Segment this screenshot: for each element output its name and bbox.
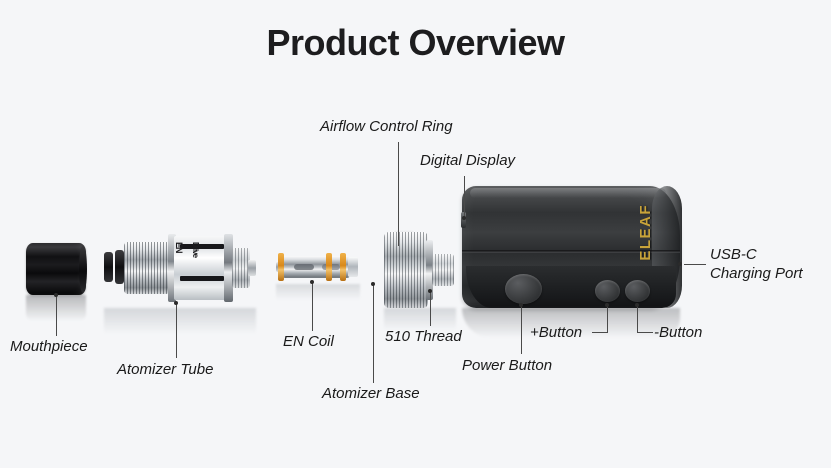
leader-en-coil bbox=[312, 283, 313, 331]
leader-dot-atomizer-tube bbox=[174, 301, 178, 305]
atomizer-oring-2 bbox=[115, 250, 124, 284]
plus-button-part[interactable] bbox=[595, 280, 620, 302]
device-top-edge bbox=[470, 188, 666, 198]
atomizer-tube-part: EN Drive bbox=[104, 228, 256, 308]
airflow-control-ring-part bbox=[384, 232, 428, 308]
label-atomizer-tube: Atomizer Tube bbox=[117, 361, 213, 380]
label-minus-button: -Button bbox=[654, 324, 702, 343]
leader-dot-mouthpiece bbox=[54, 293, 58, 297]
leader-dot-power-button bbox=[519, 303, 523, 307]
label-usb-c-line2: Charging Port bbox=[710, 265, 803, 282]
leader-usb-c-port bbox=[684, 264, 706, 265]
510-thread-part bbox=[432, 254, 454, 286]
label-mouthpiece: Mouthpiece bbox=[10, 338, 88, 357]
mouthpiece-part bbox=[26, 243, 86, 295]
leader-dot-510-thread bbox=[428, 289, 432, 293]
leader-510-thread bbox=[430, 292, 431, 326]
tank-brand-text: EN bbox=[174, 242, 184, 253]
leader-minus-button-vertical bbox=[637, 306, 638, 332]
leader-dot-minus-button bbox=[635, 303, 639, 307]
en-coil-reflection bbox=[276, 284, 360, 300]
atomizer-base-reflection bbox=[384, 308, 456, 330]
en-coil-oring-3 bbox=[340, 253, 346, 281]
label-plus-button: +Button bbox=[530, 324, 582, 343]
leader-plus-button-horizontal bbox=[592, 332, 608, 333]
leader-dot-atomizer-base bbox=[371, 282, 375, 286]
power-button-part[interactable] bbox=[505, 274, 542, 304]
leader-dot-en-coil bbox=[310, 280, 314, 284]
leader-digital-display bbox=[464, 176, 465, 218]
leader-minus-button-horizontal bbox=[637, 332, 653, 333]
label-power-button: Power Button bbox=[462, 357, 552, 376]
atomizer-tube-reflection bbox=[104, 308, 256, 334]
leader-power-button bbox=[521, 306, 522, 354]
leader-atomizer-base bbox=[373, 285, 374, 383]
en-coil-oring-2 bbox=[326, 253, 332, 281]
leader-dot-digital-display bbox=[462, 216, 466, 220]
minus-button-part[interactable] bbox=[625, 280, 650, 302]
leader-mouthpiece bbox=[56, 296, 57, 336]
leader-dot-plus-button bbox=[605, 303, 609, 307]
device-mod-part: ELEAF bbox=[462, 186, 680, 308]
label-digital-display: Digital Display bbox=[420, 152, 515, 171]
leader-atomizer-tube bbox=[176, 304, 177, 358]
atomizer-base-part bbox=[384, 232, 456, 308]
eleaf-brand-logo: ELEAF bbox=[637, 204, 654, 261]
label-510-thread: 510 Thread bbox=[385, 328, 462, 347]
label-atomizer-base: Atomizer Base bbox=[322, 385, 420, 404]
label-en-coil: EN Coil bbox=[283, 333, 334, 352]
page-title: Product Overview bbox=[0, 22, 831, 64]
atomizer-tube-pin bbox=[248, 260, 256, 276]
atomizer-oring-1 bbox=[104, 252, 113, 282]
atomizer-top-cap bbox=[124, 242, 170, 294]
label-usb-c-port: USB-C Charging Port bbox=[710, 246, 825, 284]
leader-plus-button-vertical bbox=[607, 306, 608, 332]
product-overview-diagram: Product Overview EN Drive bbox=[0, 0, 831, 468]
atomizer-chimney bbox=[192, 246, 208, 290]
en-coil-tip bbox=[348, 257, 358, 277]
leader-dot-usb-c-port bbox=[678, 262, 682, 266]
label-airflow-control-ring: Airflow Control Ring bbox=[320, 118, 453, 137]
leader-airflow-control-ring bbox=[398, 142, 399, 246]
label-usb-c-line1: USB-C bbox=[710, 246, 757, 263]
en-coil-oring-1 bbox=[278, 253, 284, 281]
en-coil-part bbox=[276, 250, 360, 284]
